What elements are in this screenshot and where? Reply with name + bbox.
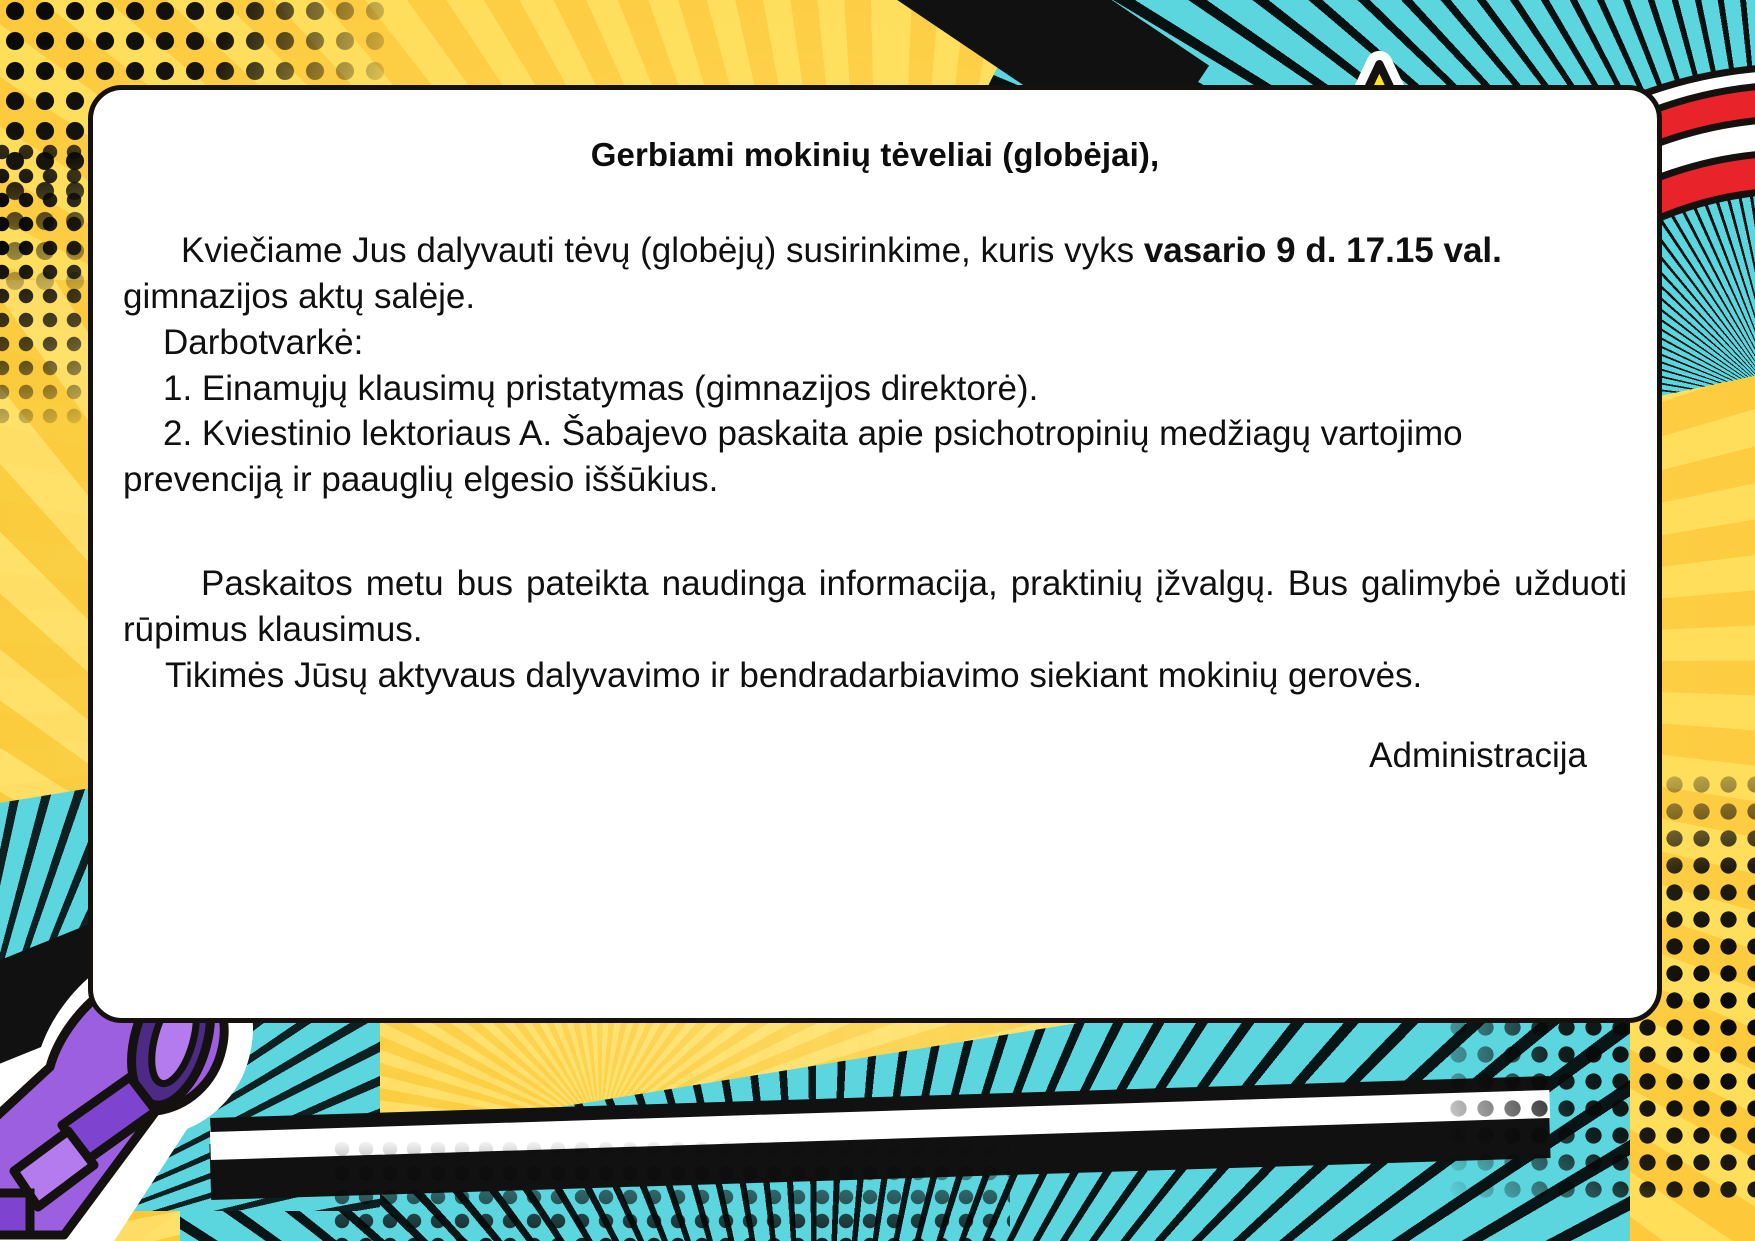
invitation-tail: gimnazijos aktų salėje. (123, 277, 475, 316)
page-title: Gerbiami mokinių tėveliai (globėjai), (123, 136, 1627, 174)
hope-paragraph: Tikimės Jūsų aktyvaus dalyvavimo ir bend… (123, 653, 1627, 699)
invitation-lead: Kviečiame Jus dalyvauti tėvų (globėjų) s… (181, 231, 1144, 270)
agenda-item-1: 1. Einamųjų klausimų pristatymas (gimnaz… (123, 366, 1627, 412)
poster-canvas: Gerbiami mokinių tėveliai (globėjai), Kv… (0, 0, 1755, 1241)
halftone-dots-icon-bottom (330, 1137, 1010, 1241)
info-paragraph: Paskaitos metu bus pateikta naudinga inf… (123, 561, 1627, 653)
announcement-panel: Gerbiami mokinių tėveliai (globėjai), Kv… (88, 85, 1662, 1023)
signature: Administracija (123, 733, 1627, 779)
meeting-datetime: vasario 9 d. 17.15 val. (1144, 231, 1502, 270)
invitation-paragraph: Kviečiame Jus dalyvauti tėvų (globėjų) s… (123, 228, 1627, 320)
agenda-item-2: 2. Kviestinio lektoriaus A. Šabajevo pas… (123, 411, 1627, 503)
agenda-heading: Darbotvarkė: (123, 320, 1627, 366)
